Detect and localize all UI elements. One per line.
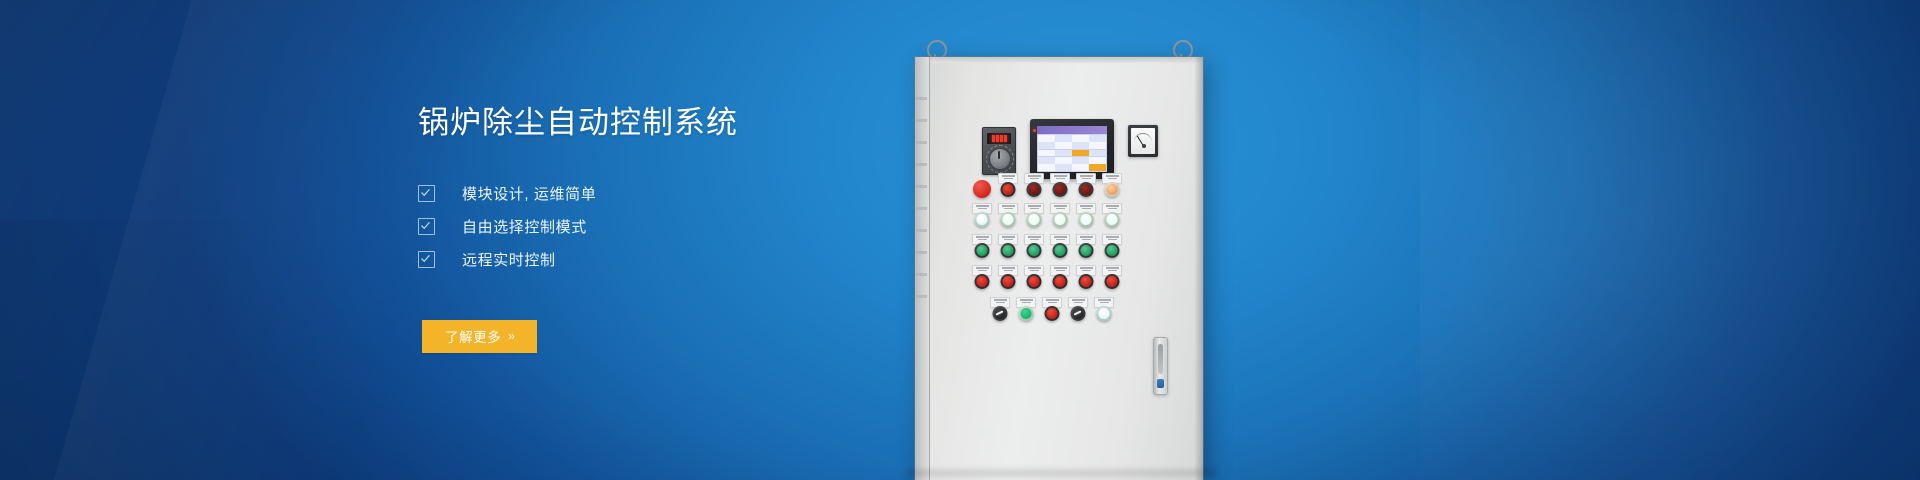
lamp-cell [1021, 203, 1047, 234]
indicator-lamp-red[interactable] [1001, 274, 1016, 289]
list-item: 模块设计, 运维简单 [418, 177, 898, 210]
learn-more-label: 了解更多 [445, 326, 501, 346]
lamp-lens [1029, 184, 1040, 195]
lamp-lens [1003, 214, 1014, 225]
indicator-lamp-red[interactable] [1027, 274, 1042, 289]
lamp-cell [1073, 203, 1099, 234]
indicator-lamp-green[interactable] [975, 243, 990, 258]
lamp-lens [1055, 276, 1066, 287]
lamp-cell [1091, 297, 1117, 328]
indicator-lamp-red-dark[interactable] [1053, 182, 1068, 197]
lamp-row-emergency-row [969, 173, 1125, 204]
indicator-lamp-green-pale[interactable] [1105, 212, 1120, 227]
rotary-knob[interactable] [989, 148, 1011, 170]
lamp-cell [1021, 173, 1047, 204]
indicator-lamp-green-pale[interactable] [1053, 212, 1068, 227]
lamp-lens [977, 276, 988, 287]
lamp-row-selector-switch-row [987, 297, 1117, 328]
feature-list: 模块设计, 运维简单 自由选择控制模式 远程实时控制 [418, 177, 898, 276]
door-handle[interactable] [1153, 337, 1168, 395]
lamp-cell [969, 203, 995, 234]
cabinet-body [915, 57, 1203, 480]
door-lock-icon[interactable] [1157, 379, 1164, 388]
lamp-lens [1055, 184, 1066, 195]
lamp-cell [995, 173, 1021, 204]
indicator-lamp-red[interactable] [1053, 274, 1068, 289]
lamp-cell [1073, 173, 1099, 204]
hmi-screen[interactable] [1037, 126, 1107, 172]
lamp-cell [1073, 234, 1099, 265]
lamp-lens [977, 214, 988, 225]
indicator-lamp-green[interactable] [1001, 243, 1016, 258]
lamp-cell [1047, 203, 1073, 234]
indicator-lamp-green-pale[interactable] [1079, 212, 1094, 227]
lamp-cell [1099, 234, 1125, 265]
lamp-lens [1081, 214, 1092, 225]
indicator-lamp-red[interactable] [975, 274, 990, 289]
lamp-cell [1099, 203, 1125, 234]
hmi-title-bar [1037, 126, 1107, 134]
indicator-lamp-green-pale[interactable] [1027, 212, 1042, 227]
lamp-lens [1029, 245, 1040, 256]
lamp-lens [1003, 245, 1014, 256]
lamp-lens [1081, 245, 1092, 256]
lamp-cell [1073, 265, 1099, 296]
digital-controller[interactable] [982, 127, 1016, 175]
indicator-lamp-black-selector[interactable] [993, 306, 1008, 321]
control-cabinet-photo [905, 36, 1215, 480]
lamp-cell [1099, 265, 1125, 296]
lamp-cell [969, 234, 995, 265]
indicator-lamp-white[interactable] [975, 212, 990, 227]
lamp-cell [1099, 173, 1125, 204]
cabinet-right-edge [1194, 57, 1203, 480]
hmi-data-grid[interactable] [1037, 134, 1107, 172]
meter-hub [1142, 144, 1146, 148]
lamp-cell [995, 265, 1021, 296]
learn-more-button[interactable]: 了解更多 » [422, 320, 537, 353]
indicator-lamp-green[interactable] [1079, 243, 1094, 258]
list-item: 远程实时控制 [418, 243, 898, 276]
analog-meter [1128, 125, 1158, 157]
indicator-lamp-red[interactable] [1045, 306, 1060, 321]
indicator-lamp-red[interactable] [1079, 274, 1094, 289]
lamp-cell [1065, 297, 1091, 328]
lamp-cell [995, 234, 1021, 265]
lamp-lens [1073, 308, 1084, 319]
lamp-row-white-indicator-row [969, 203, 1125, 234]
indicator-lamp-green[interactable] [1053, 243, 1068, 258]
lamp-cell [1013, 297, 1039, 328]
page-title: 锅炉除尘自动控制系统 [418, 104, 898, 143]
lamp-lens [1099, 308, 1110, 319]
indicator-lamp-black-selector[interactable] [1071, 306, 1086, 321]
lamp-cell [1021, 234, 1047, 265]
lamp-lens [1003, 184, 1014, 195]
lamp-cell [1047, 173, 1073, 204]
indicator-lamp-green-pale[interactable] [1001, 212, 1016, 227]
lamp-cell [969, 265, 995, 296]
indicator-lamp-red[interactable] [1105, 274, 1120, 289]
lamp-cell [1047, 234, 1073, 265]
lamp-lens [1047, 308, 1058, 319]
feature-label: 模块设计, 运维简单 [462, 183, 596, 204]
floor-shadow [905, 470, 1215, 480]
lamp-row-red-button-row [969, 265, 1125, 296]
lamp-lens [1081, 276, 1092, 287]
lamp-cell [995, 203, 1021, 234]
lamp-lens [1081, 184, 1092, 195]
lamp-lens [1107, 184, 1118, 195]
lamp-lens [995, 308, 1006, 319]
hero-banner: 锅炉除尘自动控制系统 模块设计, 运维简单 自由选择控制模式 远程实时控制 [0, 0, 1920, 480]
chevron-right-icon: » [508, 329, 514, 343]
lamp-lens [977, 245, 988, 256]
lamp-lens [1055, 214, 1066, 225]
lamp-lens [1107, 276, 1118, 287]
lamp-cell [1047, 265, 1073, 296]
glow-decoration [1420, 0, 1920, 480]
feature-label: 远程实时控制 [462, 249, 556, 270]
lamp-lens [1107, 245, 1118, 256]
indicator-lamp-red-bright[interactable] [1001, 182, 1016, 197]
list-item: 自由选择控制模式 [418, 210, 898, 243]
hero-copy: 锅炉除尘自动控制系统 模块设计, 运维简单 自由选择控制模式 远程实时控制 [418, 104, 898, 353]
checkbox-icon [418, 185, 435, 202]
lamp-lens [1029, 276, 1040, 287]
indicator-lamp-green[interactable] [1105, 243, 1120, 258]
power-led-icon [1033, 129, 1036, 132]
indicator-lamp-amber[interactable] [1105, 182, 1120, 197]
handle-grip [1158, 344, 1163, 374]
indicator-lamp-green[interactable] [1027, 243, 1042, 258]
indicator-lamp-green-selector[interactable] [1019, 306, 1034, 321]
lamp-lens [1021, 308, 1032, 319]
lamp-lens [1055, 245, 1066, 256]
feature-label: 自由选择控制模式 [462, 216, 587, 237]
indicator-lamp-white[interactable] [1097, 306, 1112, 321]
indicator-lamp-red-mushroom[interactable] [973, 180, 991, 198]
checkbox-icon [418, 251, 435, 268]
indicator-lamp-red-dark[interactable] [1079, 182, 1094, 197]
lamp-cell [1021, 265, 1047, 296]
cabinet-top-cap [915, 57, 1203, 63]
lamp-lens [1003, 276, 1014, 287]
led-readout [987, 133, 1011, 144]
lamp-cell [1039, 297, 1065, 328]
lamp-lens [1029, 214, 1040, 225]
hmi-touchscreen[interactable] [1030, 119, 1114, 179]
checkbox-icon [418, 218, 435, 235]
cabinet-hinge-strip [915, 57, 930, 480]
indicator-lamp-red-dark[interactable] [1027, 182, 1042, 197]
lamp-row-green-button-row [969, 234, 1125, 265]
lamp-lens [1107, 214, 1118, 225]
meter-face [1131, 128, 1155, 154]
lamp-cell [969, 173, 995, 204]
lamp-cell [987, 297, 1013, 328]
